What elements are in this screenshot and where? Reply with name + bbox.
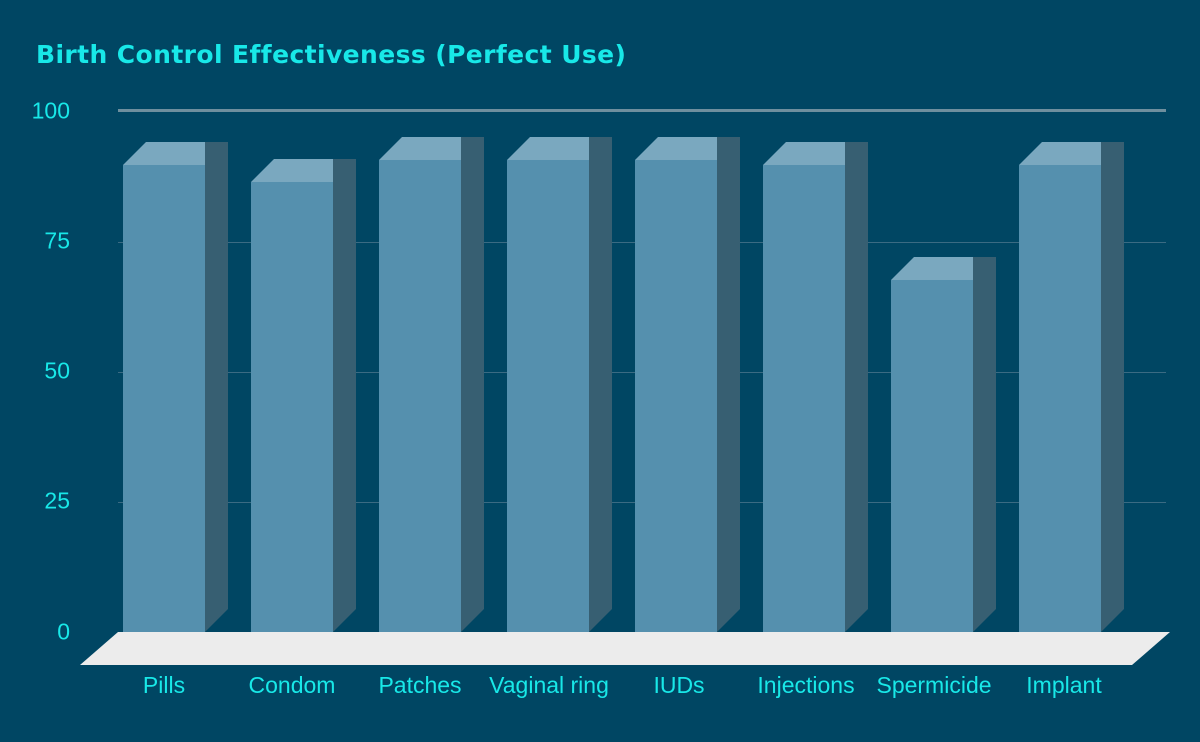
- chart-floor: [80, 632, 1166, 666]
- bar-front-face: [123, 165, 205, 632]
- x-tick-label-iuds: IUDs: [653, 672, 704, 699]
- x-tick-label-condom: Condom: [249, 672, 336, 699]
- x-tick-label-injections: Injections: [757, 672, 854, 699]
- bar-patches[interactable]: [379, 137, 484, 632]
- gridline-100: [118, 109, 1166, 112]
- y-tick-label-50: 50: [0, 358, 70, 385]
- bar-side-face: [333, 159, 356, 632]
- bar-side-face: [1101, 142, 1124, 632]
- bar-front-face: [251, 182, 333, 632]
- y-tick-label-75: 75: [0, 228, 70, 255]
- y-tick-label-25: 25: [0, 488, 70, 515]
- x-tick-label-spermicide: Spermicide: [876, 672, 991, 699]
- plot-area: 100 75 50 25 0: [0, 0, 1200, 742]
- bar-side-face: [845, 142, 868, 632]
- y-tick-label-0: 0: [0, 619, 70, 646]
- bar-implant[interactable]: [1019, 142, 1124, 632]
- bar-front-face: [507, 160, 589, 632]
- bar-side-face: [973, 257, 996, 632]
- x-tick-label-pills: Pills: [143, 672, 185, 699]
- bar-injections[interactable]: [763, 142, 868, 632]
- chart-root: Birth Control Effectiveness (Perfect Use…: [0, 0, 1200, 742]
- bar-side-face: [589, 137, 612, 632]
- bar-front-face: [891, 280, 973, 632]
- bar-side-face: [205, 142, 228, 632]
- bar-front-face: [379, 160, 461, 632]
- bar-front-face: [1019, 165, 1101, 632]
- y-tick-label-100: 100: [0, 98, 70, 125]
- x-tick-label-implant: Implant: [1026, 672, 1101, 699]
- x-tick-label-vaginal-ring: Vaginal ring: [489, 672, 609, 699]
- bar-pills[interactable]: [123, 142, 228, 632]
- bar-side-face: [461, 137, 484, 632]
- bar-side-face: [717, 137, 740, 632]
- bar-condom[interactable]: [251, 159, 356, 632]
- bar-iuds[interactable]: [635, 137, 740, 632]
- x-tick-label-patches: Patches: [378, 672, 461, 699]
- bar-front-face: [635, 160, 717, 632]
- bar-front-face: [763, 165, 845, 632]
- bar-vaginal-ring[interactable]: [507, 137, 612, 632]
- bar-spermicide[interactable]: [891, 257, 996, 632]
